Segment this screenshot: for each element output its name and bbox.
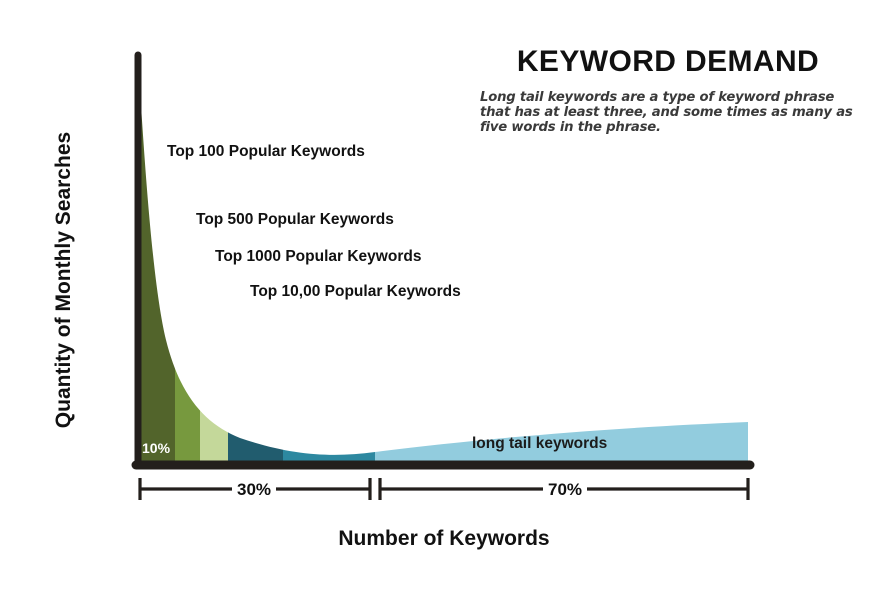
title-block: KEYWORD DEMAND Long tail keywords are a …	[468, 46, 868, 135]
keyword-demand-infographic: KEYWORD DEMAND Long tail keywords are a …	[0, 0, 876, 600]
bracket-caption-30: 30%	[232, 480, 276, 500]
series-label-top-100: Top 100 Popular Keywords	[167, 143, 365, 161]
band-top-500	[175, 40, 200, 466]
bracket-caption-70: 70%	[543, 480, 587, 500]
series-label-top-500: Top 500 Popular Keywords	[196, 211, 394, 229]
head-percentage-label: 10%	[142, 440, 170, 456]
series-label-top-10000: Top 10,00 Popular Keywords	[250, 283, 461, 301]
series-label-top-1000: Top 1000 Popular Keywords	[215, 248, 421, 266]
band-top-100	[138, 40, 175, 466]
chart-title: KEYWORD DEMAND	[468, 46, 868, 78]
x-axis-title: Number of Keywords	[138, 527, 750, 551]
chart-subtitle: Long tail keywords are a type of keyword…	[468, 90, 868, 136]
y-axis-title: Quantity of Monthly Searches	[52, 110, 76, 450]
long-tail-region-label: long tail keywords	[472, 435, 607, 453]
